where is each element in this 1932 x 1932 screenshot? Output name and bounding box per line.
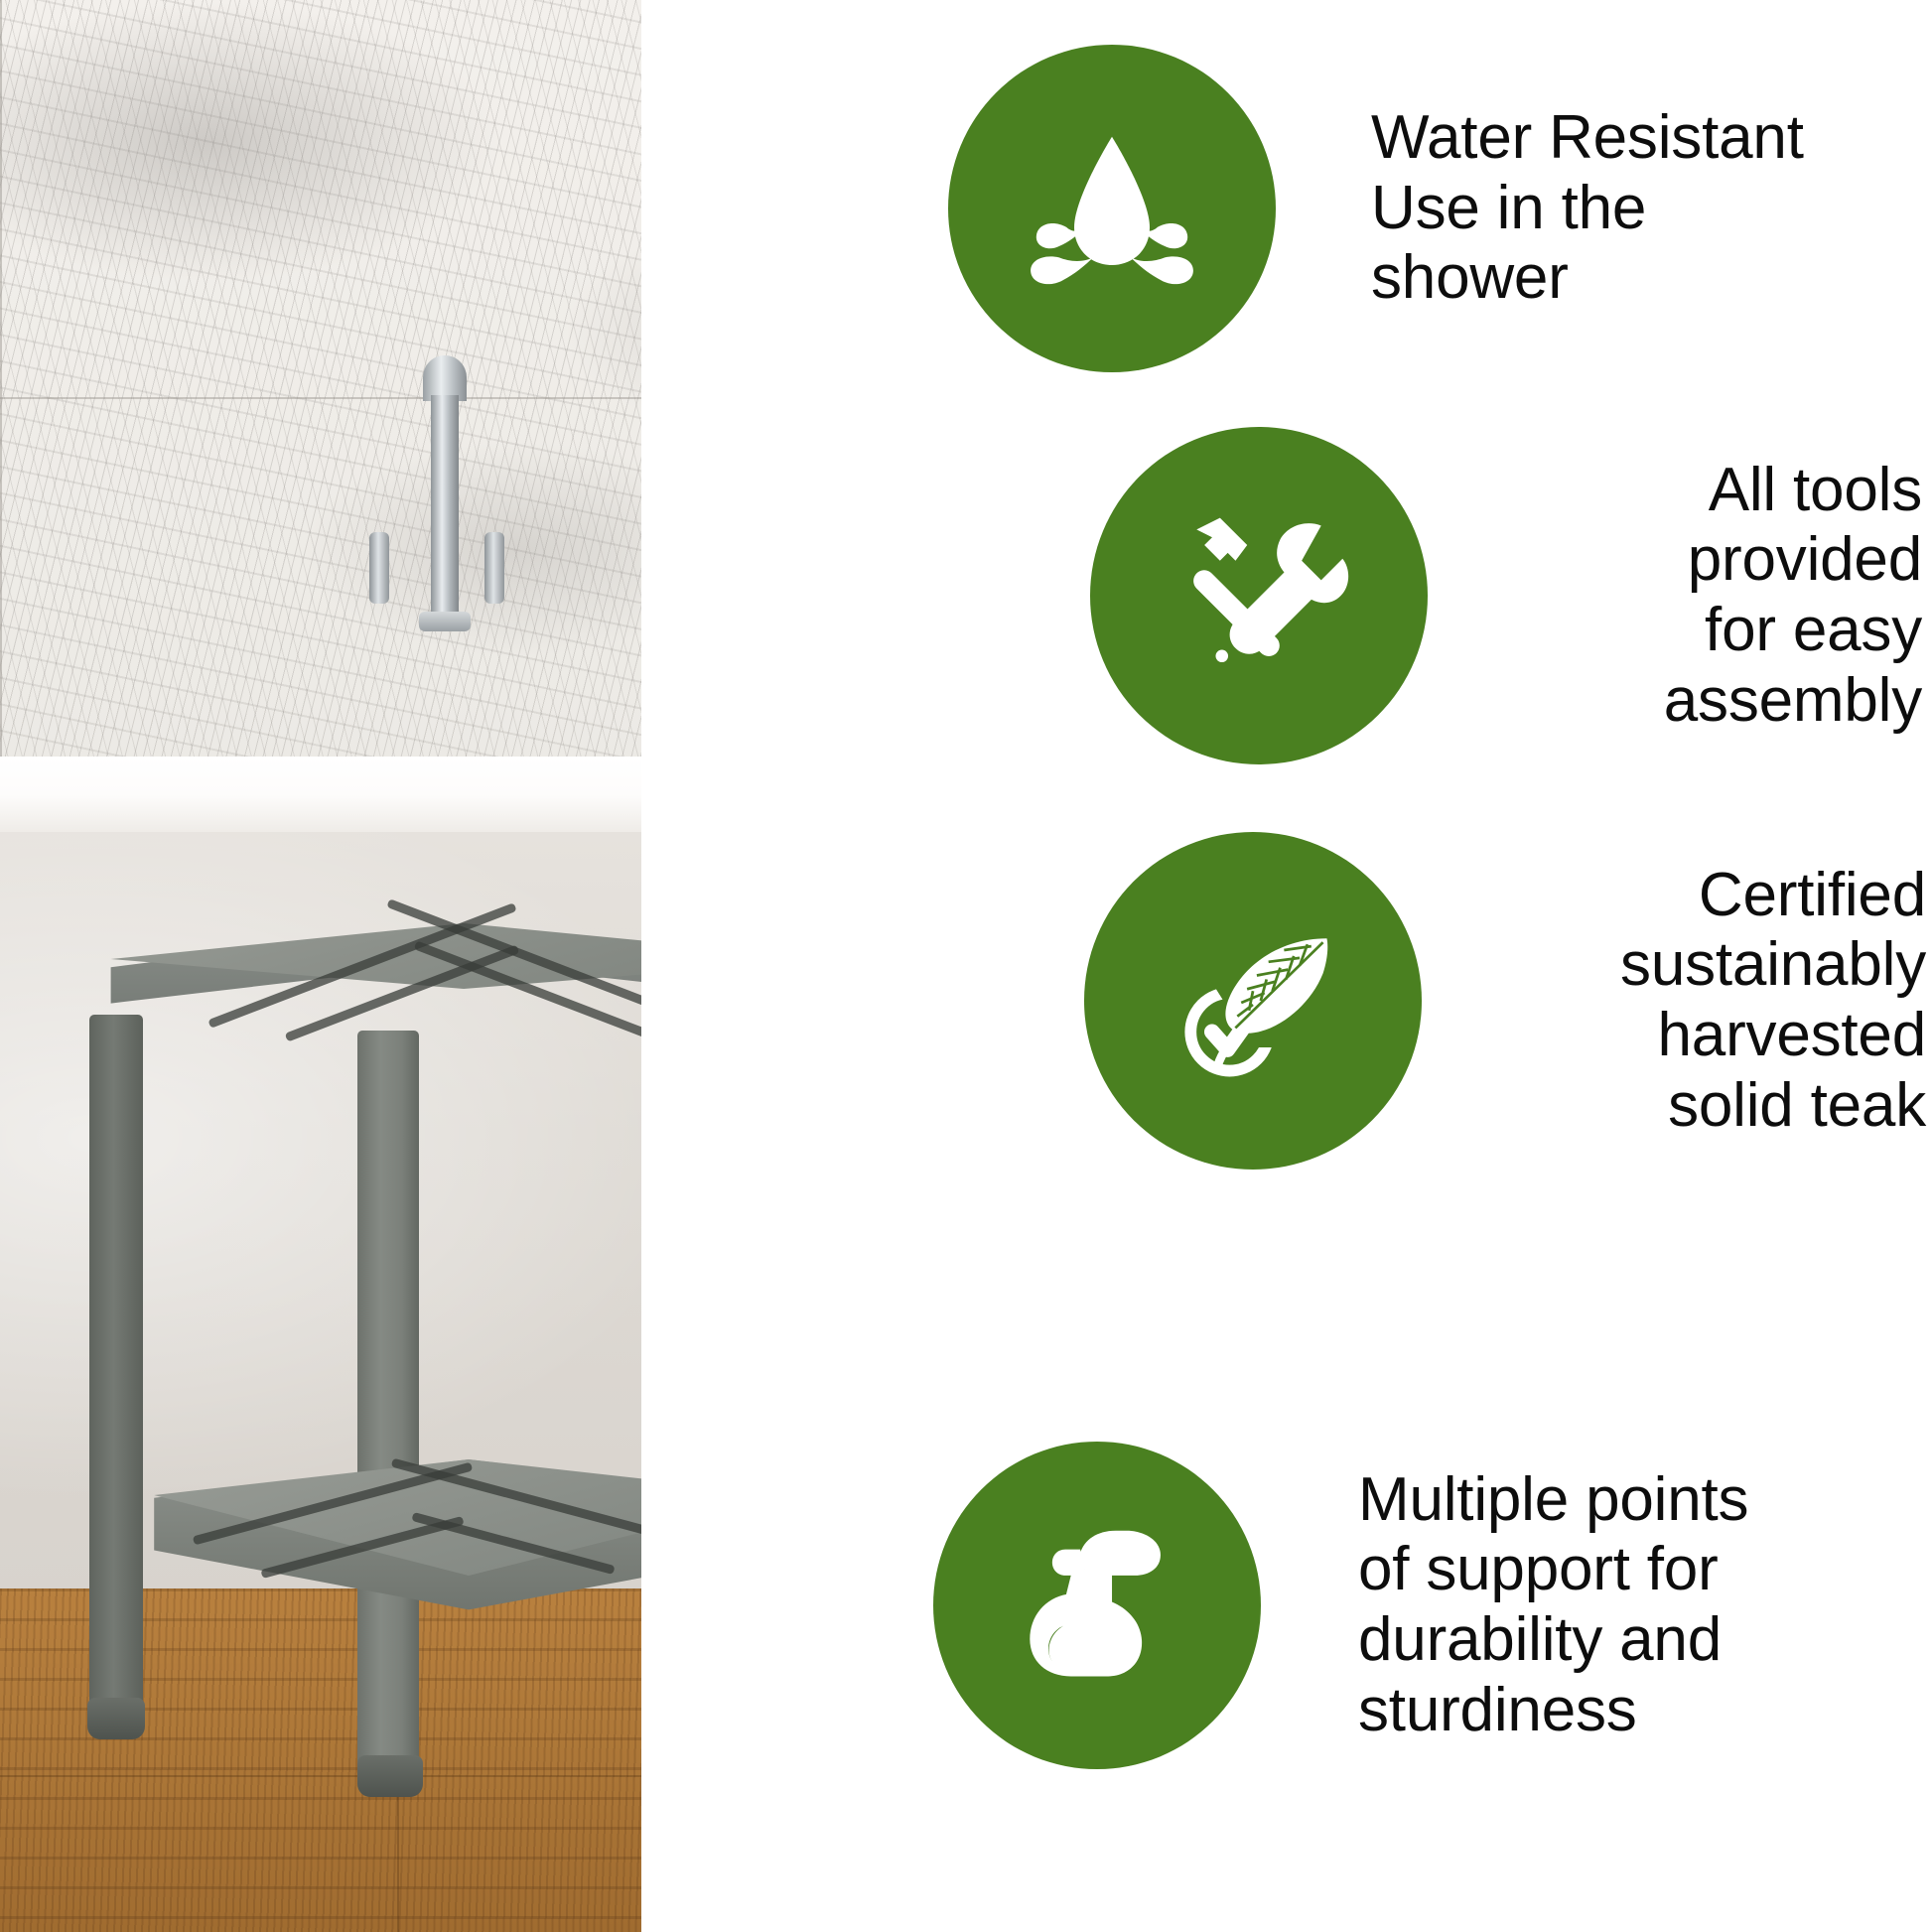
water-drop-splash-icon [1018, 114, 1206, 303]
hammer-wrench-icon [1162, 498, 1356, 693]
feature-text: All tools provided for easy assembly [1505, 456, 1922, 737]
infographic-canvas: Water Resistant Use in the shower All to… [0, 0, 1932, 1932]
feature-badge-circle [1084, 832, 1422, 1170]
stool-leg-front [357, 1031, 419, 1765]
faucet-handle-left [369, 532, 389, 604]
faucet-base [419, 612, 471, 631]
feature-text: Certified sustainably harvested solid te… [1499, 861, 1926, 1142]
stool-leg-back-left [89, 1015, 143, 1710]
stool-foot-front [357, 1755, 423, 1797]
feature-badge-circle [1090, 427, 1428, 764]
feature-text: Water Resistant Use in the shower [1371, 103, 1887, 314]
faucet [397, 355, 536, 653]
feature-badge-circle [948, 45, 1276, 372]
feature-water-resistant: Water Resistant Use in the shower [948, 45, 1887, 372]
faucet-handle-right [484, 532, 504, 604]
feature-sturdy-support: Multiple points of support for durabilit… [933, 1442, 1884, 1769]
feature-badge-circle [933, 1442, 1261, 1769]
feature-sustainable-teak: Certified sustainably harvested solid te… [1084, 832, 1926, 1170]
stool-foot-back-left [87, 1698, 145, 1739]
faucet-neck [431, 395, 459, 623]
flexed-bicep-icon [1004, 1512, 1190, 1699]
tile-grout-vertical [0, 0, 2, 784]
feature-text: Multiple points of support for durabilit… [1358, 1465, 1884, 1746]
leaf-check-icon [1156, 903, 1350, 1098]
feature-tools-included: All tools provided for easy assembly [1090, 427, 1922, 764]
